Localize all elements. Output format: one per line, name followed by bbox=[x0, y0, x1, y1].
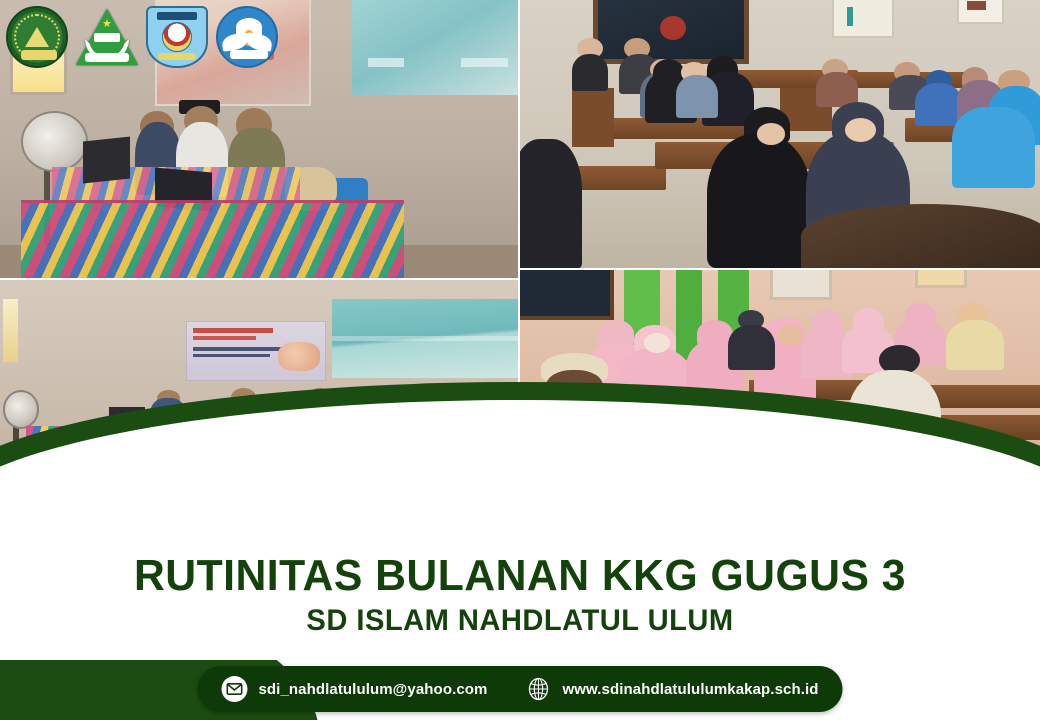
title-block: RUTINITAS BULANAN KKG GUGUS 3 SD ISLAM N… bbox=[0, 553, 1040, 637]
wall-poster bbox=[957, 0, 1004, 24]
wall-poster bbox=[832, 0, 894, 38]
photo-classroom-teachers-dark bbox=[520, 0, 1040, 268]
poster-root: 13 Jun 2023 08.38.29 No. 1 Jalan Raya Ka… bbox=[0, 0, 1040, 720]
window bbox=[770, 270, 832, 300]
banner-title-line bbox=[193, 328, 273, 334]
banner-text-line bbox=[193, 347, 284, 350]
window bbox=[3, 299, 19, 361]
standing-fan bbox=[3, 390, 39, 428]
logo-kemenag-icon bbox=[6, 6, 68, 68]
person-body-hijab-front bbox=[707, 134, 811, 268]
logo-banner-band bbox=[21, 50, 57, 60]
person-body-hijab bbox=[915, 83, 962, 126]
person-body bbox=[952, 107, 1035, 187]
event-banner bbox=[186, 321, 326, 381]
page-title: RUTINITAS BULANAN KKG GUGUS 3 bbox=[16, 553, 1025, 599]
logo-nahdlatul-ulum-icon: ★ bbox=[76, 9, 138, 65]
contact-website[interactable]: www.sdinahdlatululumkakap.sch.id bbox=[526, 676, 819, 702]
banner-text-line bbox=[193, 354, 270, 357]
globe-icon bbox=[526, 676, 552, 702]
person-body bbox=[728, 325, 775, 370]
screen-ui-element bbox=[461, 58, 508, 66]
contact-email[interactable]: sdi_nahdlatululum@yahoo.com bbox=[221, 676, 487, 702]
contact-bar: sdi_nahdlatululum@yahoo.com www.sdinahdl… bbox=[197, 666, 842, 712]
photo-tr-scene bbox=[520, 0, 1040, 268]
wing-right-icon bbox=[245, 32, 273, 51]
logo-nahdlatul-ulum-wrap: ★ bbox=[76, 6, 138, 68]
envelope-icon bbox=[221, 676, 247, 702]
person-body-front bbox=[520, 139, 582, 268]
bench-back bbox=[572, 88, 614, 147]
logo-tut-wuri-handayani-icon bbox=[216, 6, 278, 68]
projector-screen bbox=[352, 0, 518, 95]
person-face bbox=[845, 118, 876, 142]
banner-illustration bbox=[278, 342, 319, 371]
person-body bbox=[676, 75, 718, 118]
logo-triangle bbox=[25, 27, 49, 47]
person-face bbox=[644, 333, 670, 353]
website-text: www.sdinahdlatululumkakap.sch.id bbox=[563, 681, 819, 698]
screen-ui-element bbox=[368, 58, 404, 66]
person-body bbox=[946, 320, 1003, 370]
logo-kabupaten-emblem bbox=[162, 22, 192, 52]
person-face bbox=[757, 123, 786, 144]
blackboard bbox=[520, 270, 614, 320]
ribbon-icon bbox=[85, 53, 129, 62]
book-base-icon bbox=[230, 50, 268, 59]
page-subtitle: SD ISLAM NAHDLATUL ULUM bbox=[16, 604, 1025, 637]
desk-front-foreground bbox=[801, 204, 1040, 268]
wing-left-icon bbox=[221, 32, 249, 51]
logo-kabupaten-top-band bbox=[157, 12, 197, 20]
projected-slide bbox=[332, 299, 518, 378]
person-body bbox=[572, 54, 608, 92]
email-text: sdi_nahdlatululum@yahoo.com bbox=[258, 681, 487, 698]
window bbox=[915, 270, 967, 288]
logo-kabupaten-icon bbox=[146, 6, 208, 68]
standing-fan bbox=[21, 111, 88, 172]
logo-kabupaten-bottom-band bbox=[158, 53, 196, 60]
star-icon: ★ bbox=[102, 19, 112, 30]
laptop bbox=[83, 137, 130, 184]
banner-title-line bbox=[193, 336, 256, 341]
table-cloth-batik bbox=[21, 200, 404, 278]
logo-strip: ★ bbox=[6, 6, 278, 68]
